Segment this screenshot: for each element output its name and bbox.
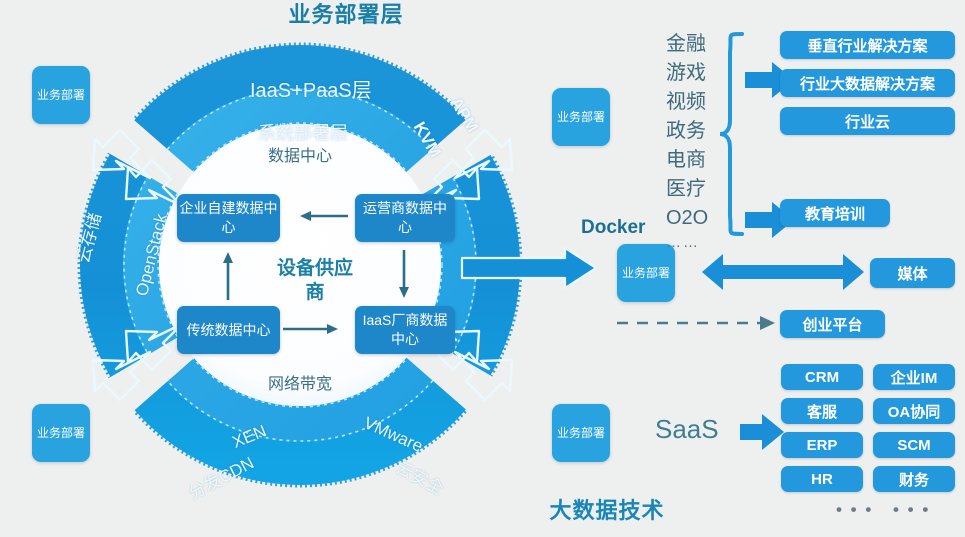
pill-saas-customer-service[interactable]: 客服 <box>781 398 863 424</box>
industry-item-2: 视频 <box>666 88 724 117</box>
pill-saas-enterprise-im[interactable]: 企业IM <box>873 364 955 390</box>
diagram-canvas: 业务部署层 大数据技术 IaaS+PaaS层 系统部署层 云存储 APM 分发C… <box>0 0 965 537</box>
pill-saas-finance[interactable]: 财务 <box>873 466 955 492</box>
saas-ellipsis-left: • • • <box>836 500 873 520</box>
hub-center-label: 设备供应商 <box>274 257 356 305</box>
media-double-arrow <box>702 254 864 290</box>
pill-startup-platform[interactable]: 创业平台 <box>780 310 885 338</box>
pill-saas-erp[interactable]: ERP <box>781 432 863 458</box>
chip-deploy-bottom-left[interactable]: 业务部署 <box>32 404 90 462</box>
hub-box-iaas-vendor-dc[interactable]: IaaS厂商数据中心 <box>355 306 455 354</box>
industry-item-4: 电商 <box>666 146 724 175</box>
hub-label-datacenter: 数据中心 <box>240 142 360 166</box>
industry-ellipsis: …… <box>666 233 724 253</box>
docker-label: Docker <box>581 217 645 239</box>
ring-label-iaas-paas: IaaS+PaaS层 <box>250 74 372 103</box>
pill-vertical-solution[interactable]: 垂直行业解决方案 <box>780 31 955 59</box>
pill-industry-cloud[interactable]: 行业云 <box>780 107 955 135</box>
pill-media[interactable]: 媒体 <box>870 258 955 288</box>
saas-label: SaaS <box>655 414 719 445</box>
pill-saas-oa[interactable]: OA协同 <box>873 398 955 424</box>
chip-deploy-bottom-right[interactable]: 业务部署 <box>552 404 610 462</box>
hub-box-traditional-dc[interactable]: 传统数据中心 <box>177 306 280 354</box>
pill-saas-hr[interactable]: HR <box>781 466 863 492</box>
hub-label-bandwidth: 网络带宽 <box>240 370 360 394</box>
industry-list: 金融 游戏 视频 政务 电商 医疗 O2O …… <box>666 30 724 253</box>
chip-deploy-top-left[interactable]: 业务部署 <box>32 66 90 124</box>
saas-arrow <box>740 414 784 450</box>
industry-item-0: 金融 <box>666 30 724 59</box>
saas-ellipsis-right: • • • <box>893 500 930 520</box>
pill-bigdata-solution[interactable]: 行业大数据解决方案 <box>780 69 955 97</box>
hub-box-enterprise-dc[interactable]: 企业自建数据中心 <box>177 194 280 242</box>
industry-item-5: 医疗 <box>666 175 724 204</box>
industry-item-1: 游戏 <box>666 59 724 88</box>
pill-education-training[interactable]: 教育培训 <box>780 199 890 227</box>
bigdata-title: 大数据技术 <box>512 496 702 526</box>
industry-item-6: O2O <box>666 204 724 233</box>
pill-saas-crm[interactable]: CRM <box>781 364 863 390</box>
industry-item-3: 政务 <box>666 117 724 146</box>
page-title: 业务部署层 <box>246 0 446 30</box>
chip-deploy-top-right[interactable]: 业务部署 <box>552 88 610 146</box>
hub-box-carrier-dc[interactable]: 运营商数据中心 <box>355 194 455 242</box>
pill-saas-scm[interactable]: SCM <box>873 432 955 458</box>
startup-dashed-arrow <box>617 316 775 330</box>
